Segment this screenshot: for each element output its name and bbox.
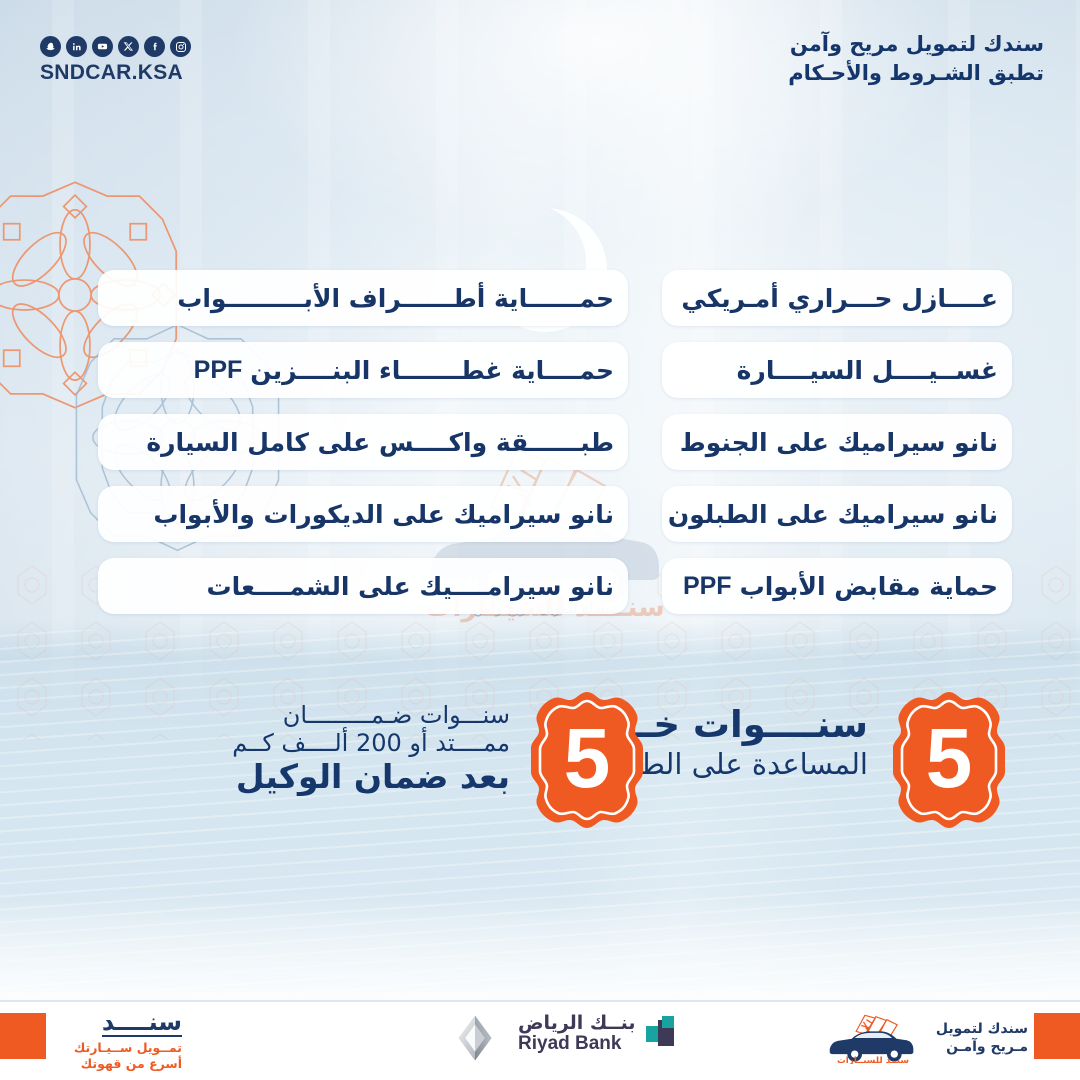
renault-diamond-icon (452, 1014, 498, 1062)
feature-label: حمــــــاية أطــــــراف الأبـــــــــواب (177, 286, 614, 311)
snd-logo-tagline1: تمــويل ســيـارتك (62, 1040, 182, 1056)
feature-pill[interactable]: غســيــــل السيــــارة (662, 342, 1012, 398)
feature-label: طبــــــقة واكــــس على كامل السيارة (146, 430, 614, 455)
promo-badge-left: 5 (524, 690, 650, 830)
features-column-right: عــــازل حـــراري أمـريكي غســيــــل الس… (662, 270, 1012, 630)
features-section: عــــازل حـــراري أمـريكي غســيــــل الس… (0, 270, 1080, 630)
snapchat-icon[interactable] (40, 36, 61, 57)
header-tagline-line2: تطبق الشـروط والأحـكام (788, 59, 1044, 88)
feature-pill[interactable]: عــــازل حـــراري أمـريكي (662, 270, 1012, 326)
feature-label: حماية مقابض الأبواب (740, 574, 998, 599)
snd-logo-tagline2: أسرع من قهوتك (62, 1056, 182, 1072)
feature-pill[interactable]: طبــــــقة واكــــس على كامل السيارة (98, 414, 628, 470)
riyad-bank-english: Riyad Bank (518, 1034, 635, 1054)
instagram-icon[interactable] (170, 36, 191, 57)
sndcar-footer-text: سندك لتمويل مـريح وآمـن (936, 1020, 1028, 1056)
feature-pill[interactable]: حمــــاية غطـــــــاء البنــــزين PPF (98, 342, 628, 398)
social-icon-row (40, 36, 191, 57)
sndcar-logo-text: سنــد للسيــارات (837, 1056, 909, 1064)
facebook-icon[interactable] (144, 36, 165, 57)
footer-orange-square-right (1034, 1013, 1080, 1059)
feature-label: نانو سيراميك على الديكورات والأبواب (153, 502, 614, 527)
sndcar-footer-line1: سندك لتمويل (936, 1020, 1028, 1038)
header-tagline-line1: سندك لتمويل مريح وآمن (788, 30, 1044, 59)
promo-number: 5 (886, 690, 1012, 830)
promo-number: 5 (524, 690, 650, 830)
poster-canvas: SNDCAR.KSA سندك لتمويل مريح وآمن تطبق ال… (0, 0, 1080, 1080)
ppf-badge: PPF (683, 574, 732, 599)
ppf-badge: PPF (194, 358, 243, 383)
feature-pill[interactable]: نانو سيراميك على الديكورات والأبواب (98, 486, 628, 542)
social-block: SNDCAR.KSA (40, 36, 191, 85)
promo-left-text: سنـــوات ضـمـــــــــان ممــــتد أو 200 … (200, 702, 510, 796)
features-column-left: حمــــــاية أطــــــراف الأبـــــــــواب… (98, 270, 628, 630)
youtube-icon[interactable] (92, 36, 113, 57)
feature-label: عــــازل حـــراري أمـريكي (681, 286, 998, 311)
sndcar-footer-logo: سندك لتمويل مـريح وآمـن سنــد للسيــارات (818, 1012, 1028, 1064)
feature-label: حمــــاية غطـــــــاء البنــــزين (250, 358, 614, 383)
riyad-bank-mark-icon (644, 1014, 684, 1054)
feature-pill[interactable]: نانو سيرامــــيك على الشمــــعات (98, 558, 628, 614)
feature-pill[interactable]: نانو سيراميك على الطبلون (662, 486, 1012, 542)
feature-label: نانو سيرامــــيك على الشمــــعات (206, 574, 614, 599)
feature-pill[interactable]: نانو سيراميك على الجنوط (662, 414, 1012, 470)
feature-pill[interactable]: حمــــــاية أطــــــراف الأبـــــــــواب (98, 270, 628, 326)
feature-pill[interactable]: حماية مقابض الأبواب PPF (662, 558, 1012, 614)
sndcar-car-icon: سنــد للسيــارات (818, 1012, 928, 1064)
feature-label: نانو سيراميك على الجنوط (680, 430, 998, 455)
promo-left-line3: بعد ضمان الوكيل (200, 758, 510, 796)
snd-logo[interactable]: سنــــد تمــويل ســيـارتك أسرع من قهوتك (62, 1010, 182, 1071)
promo-section: 5 سنــــوات خـــدمة المساعدة على الطريق … (0, 690, 1080, 830)
promo-badge-right: 5 (886, 690, 1012, 830)
riyad-bank-arabic: بنــك الرياض (518, 1014, 635, 1034)
header-tagline: سندك لتمويل مريح وآمن تطبق الشـروط والأح… (788, 30, 1044, 88)
promo-left-line1: سنـــوات ضـمـــــــــان (200, 702, 510, 730)
snd-logo-word: سنــــد (102, 1010, 182, 1037)
feature-label: غســيــــل السيــــارة (737, 358, 998, 383)
social-handle[interactable]: SNDCAR.KSA (40, 61, 191, 85)
footer-divider (0, 1000, 1080, 1002)
feature-label: نانو سيراميك على الطبلون (668, 502, 998, 527)
x-twitter-icon[interactable] (118, 36, 139, 57)
footer-orange-square-left (0, 1013, 46, 1059)
sndcar-footer-line2: مـريح وآمـن (936, 1038, 1028, 1056)
promo-left-line2: ممــــتد أو 200 ألــــف كــم (200, 730, 510, 758)
riyad-bank-logo: بنــك الرياض Riyad Bank (518, 1014, 684, 1054)
riyad-bank-text: بنــك الرياض Riyad Bank (518, 1014, 635, 1054)
linkedin-icon[interactable] (66, 36, 87, 57)
